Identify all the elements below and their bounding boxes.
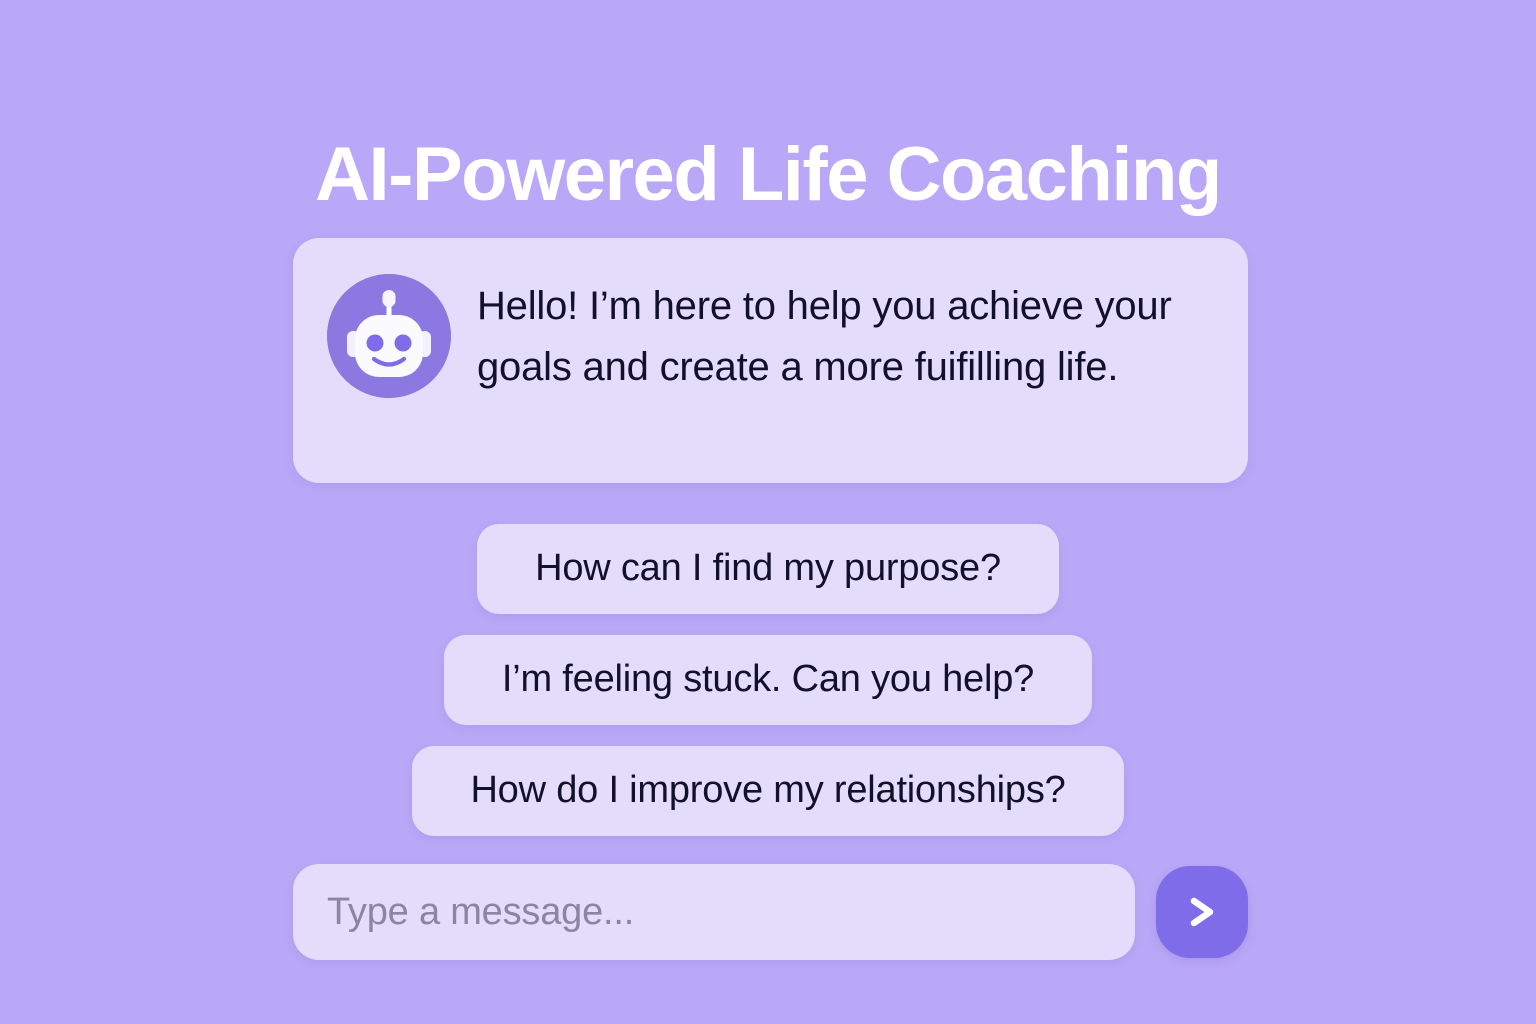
suggestion-chip-stuck[interactable]: I’m feeling stuck. Can you help? xyxy=(444,635,1092,725)
assistant-message-text: Hello! I’m here to help you achieve your… xyxy=(477,272,1207,398)
send-button[interactable] xyxy=(1156,866,1248,958)
suggestion-chip-purpose[interactable]: How can I find my purpose? xyxy=(477,524,1059,614)
robot-icon xyxy=(327,274,451,398)
chevron-right-icon xyxy=(1180,890,1224,934)
assistant-message-bubble: Hello! I’m here to help you achieve your… xyxy=(293,238,1248,483)
suggestion-chip-relationships[interactable]: How do I improve my relationships? xyxy=(412,746,1123,836)
app-screen: AI-Powered Life Coaching Hello! I’m h xyxy=(0,0,1536,1024)
suggestion-chip-list: How can I find my purpose? I’m feeling s… xyxy=(0,524,1536,836)
page-title: AI-Powered Life Coaching xyxy=(0,137,1536,213)
message-composer xyxy=(293,864,1248,960)
message-input[interactable] xyxy=(293,864,1135,960)
